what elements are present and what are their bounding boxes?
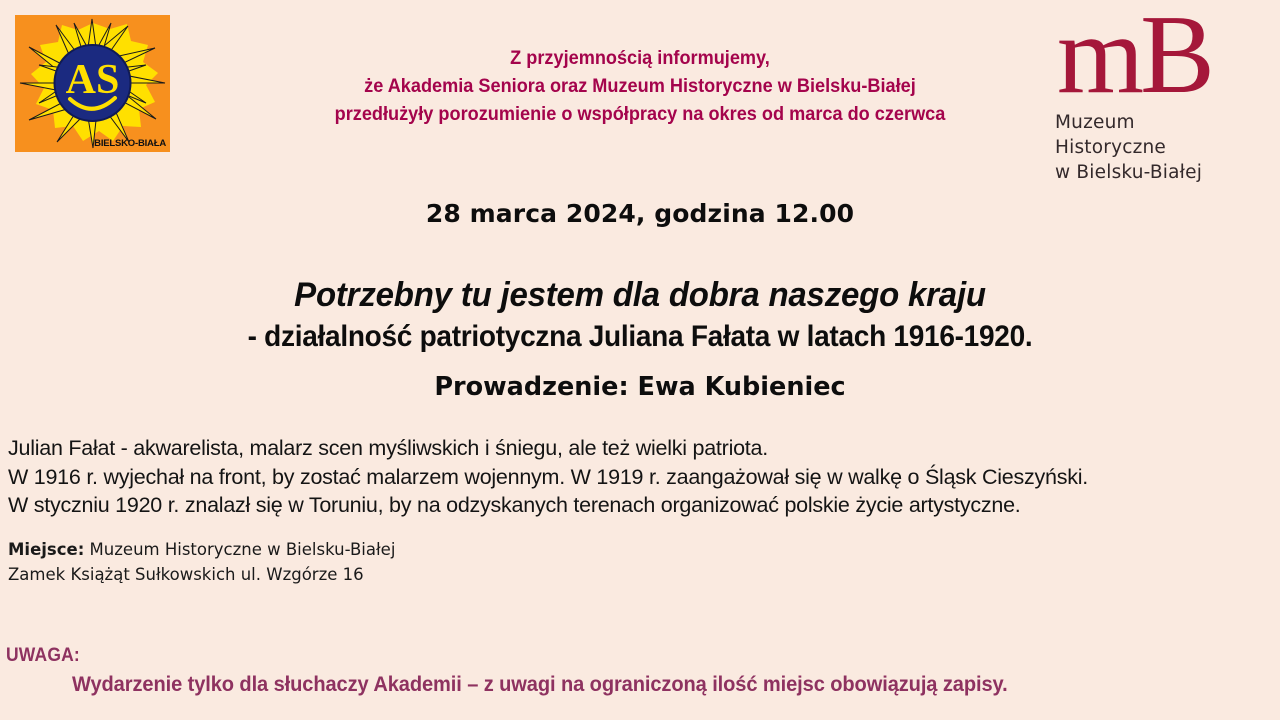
announcement-block: Z przyjemnością informujemy, że Akademia… (45, 45, 1235, 129)
description-line-2: W 1916 r. wyjechał na front, by zostać m… (8, 463, 1278, 492)
venue-block: Miejsce: Muzeum Historyczne w Bielsku-Bi… (8, 538, 395, 588)
event-description: Julian Fałat - akwarelista, malarz scen … (8, 434, 1278, 520)
poster-canvas: AS BIELSKO-BIAŁA mB Muzeum Historyczne w… (0, 0, 1280, 720)
mb-wordmark-line-2: Historyczne (1055, 135, 1225, 160)
description-line-1: Julian Fałat - akwarelista, malarz scen … (8, 434, 1278, 463)
description-line-3: W styczniu 1920 r. znalazł się w Toruniu… (8, 491, 1278, 520)
notice-label: UWAGA: (6, 645, 80, 667)
venue-name: Muzeum Historyczne w Bielsku-Białej (84, 540, 395, 559)
mb-wordmark-line-3: w Bielsku-Białej (1055, 160, 1225, 185)
announcement-line-1: Z przyjemnością informujemy, (45, 45, 1235, 73)
event-datetime: 28 marca 2024, godzina 12.00 (0, 199, 1280, 228)
venue-address: Zamek Książąt Sułkowskich ul. Wzgórze 16 (8, 563, 395, 588)
announcement-line-2: że Akademia Seniora oraz Muzeum Historyc… (45, 73, 1235, 101)
event-title-main: Potrzebny tu jestem dla dobra naszego kr… (19, 276, 1261, 315)
venue-label: Miejsce: (8, 540, 84, 559)
event-host: Prowadzenie: Ewa Kubieniec (0, 372, 1280, 402)
venue-name-line: Miejsce: Muzeum Historyczne w Bielsku-Bi… (8, 538, 395, 563)
announcement-line-3: przedłużyły porozumienie o współpracy na… (45, 101, 1235, 129)
notice-text: Wydarzenie tylko dla słuchaczy Akademii … (72, 673, 1008, 697)
event-title-subtitle: - działalność patriotyczna Juliana Fałat… (32, 320, 1248, 354)
as-logo-caption: BIELSKO-BIAŁA (94, 138, 166, 149)
